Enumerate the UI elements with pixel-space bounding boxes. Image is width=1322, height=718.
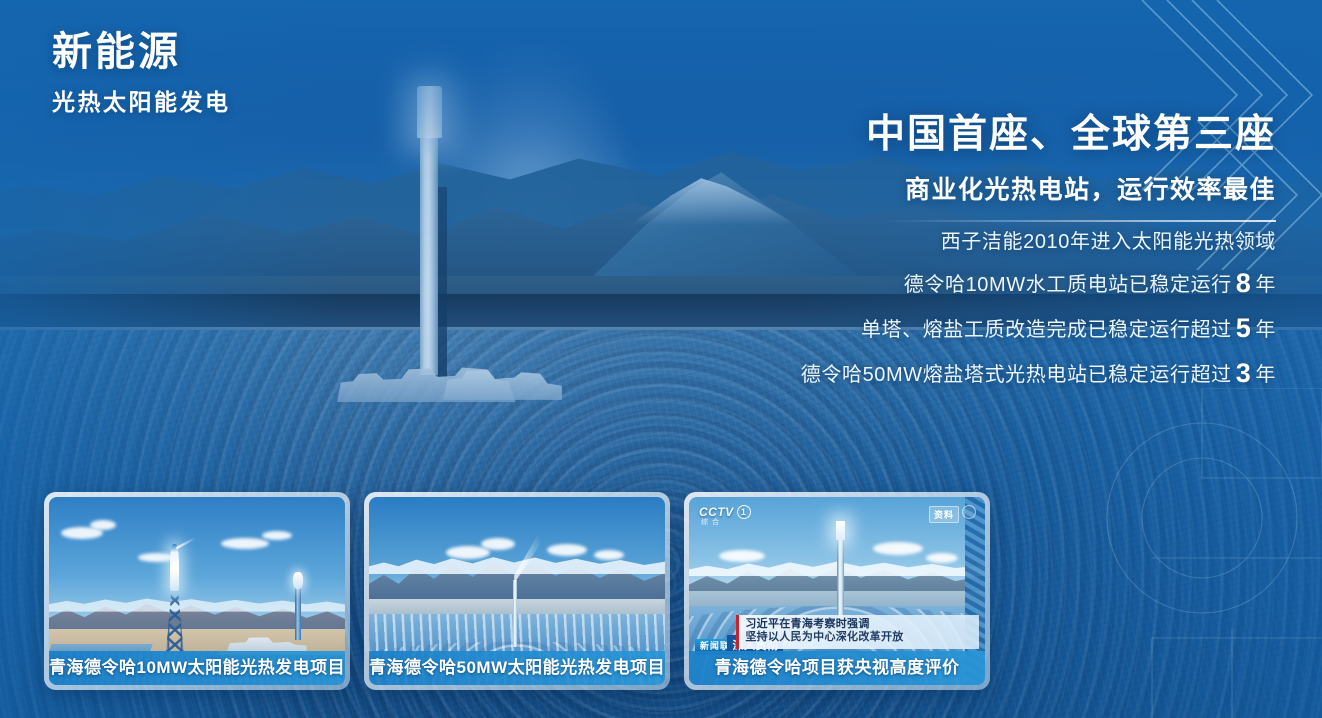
slide-canvas: 新能源 光热太阳能发电 中国首座、全球第三座 商业化光热电站，运行效率最佳 西子… [0, 0, 1322, 718]
photo-card-caption: 青海德令哈10MW太阳能光热发电项目 [49, 651, 345, 685]
fact-item: 德令哈50MW熔盐塔式光热电站已稳定运行超过3年 [801, 360, 1276, 387]
page-title: 新能源 [52, 30, 231, 75]
photo-card-image: 西子洁能 青海德令哈50MW太阳能光热发电项目 [369, 497, 665, 685]
card2-cloud [547, 544, 587, 556]
fact-text: 德令哈50MW熔盐塔式光热电站已稳定运行超过 [801, 364, 1232, 386]
card1-second-tower [295, 583, 302, 639]
headline-block: 中国首座、全球第三座 商业化光热电站，运行效率最佳 [866, 112, 1276, 222]
card1-cloud [262, 531, 292, 540]
news-ticker-line2: 坚持以人民为中心深化改革开放 [745, 631, 973, 645]
photo-card-image: CCTV 1 综合 资料 新闻联播 深入贯彻 习近平在青海考察时强调 坚持以人民… [689, 497, 985, 685]
page-subtitle: 光热太阳能发电 [52, 83, 231, 117]
card1-tower-receiver [170, 544, 179, 591]
photo-card-cctv[interactable]: CCTV 1 综合 资料 新闻联播 深入贯彻 习近平在青海考察时强调 坚持以人民… [684, 492, 990, 690]
cctv-channel-label: 综合 [701, 517, 723, 527]
fact-text: 德令哈10MW水工质电站已稳定运行 [904, 274, 1232, 296]
headline-sub: 商业化光热电站，运行效率最佳 [866, 170, 1276, 206]
photo-card-50mw[interactable]: 西子洁能 青海德令哈50MW太阳能光热发电项目 [364, 492, 670, 690]
photo-card-10mw[interactable]: 青海德令哈10MW太阳能光热发电项目 [44, 492, 350, 690]
card1-second-receiver [293, 572, 302, 589]
card2-cloud [446, 546, 490, 559]
photo-card-caption: 青海德令哈项目获央视高度评价 [689, 651, 985, 685]
fact-item: 单塔、熔盐工质改造完成已稳定运行超过5年 [801, 315, 1276, 342]
news-ticker-line1: 习近平在青海考察时强调 [745, 618, 973, 632]
card3-cloud [873, 542, 923, 555]
card3-cloud [719, 550, 765, 562]
fact-list: 西子洁能2010年进入太阳能光热领域 德令哈10MW水工质电站已稳定运行8年 单… [801, 232, 1276, 405]
photo-card-row: 青海德令哈10MW太阳能光热发电项目 西子洁能 青海德令哈50MW [44, 492, 990, 690]
broadcast-circle-icon [962, 505, 976, 519]
fact-value: 5 [1232, 313, 1256, 343]
fact-value: 8 [1232, 268, 1256, 298]
fact-text: 西子洁能2010年进入太阳能光热领域 [941, 231, 1276, 253]
card2-solar-tower [513, 580, 517, 648]
headline-divider [884, 220, 1276, 222]
fact-text: 单塔、熔盐工质改造完成已稳定运行超过 [861, 319, 1232, 341]
fact-unit: 年 [1255, 274, 1276, 296]
archive-badge: 资料 [929, 506, 959, 523]
fact-unit: 年 [1255, 364, 1276, 386]
news-ticker: 习近平在青海考察时强调 坚持以人民为中心深化改革开放 [736, 615, 979, 650]
card3-solar-tower [837, 527, 844, 621]
card3-tower-receiver [836, 521, 845, 540]
fact-unit: 年 [1255, 319, 1276, 341]
fact-value: 3 [1232, 358, 1256, 388]
fact-item: 德令哈10MW水工质电站已稳定运行8年 [801, 270, 1276, 297]
card2-cloud [594, 550, 624, 560]
fact-item: 西子洁能2010年进入太阳能光热领域 [801, 232, 1276, 252]
cctv-channel-number: 1 [737, 505, 751, 519]
brand-block: 新能源 光热太阳能发电 [52, 30, 231, 117]
photo-card-image: 青海德令哈10MW太阳能光热发电项目 [49, 497, 345, 685]
photo-card-caption: 青海德令哈50MW太阳能光热发电项目 [369, 651, 665, 685]
card1-cloud [90, 520, 116, 530]
headline-main: 中国首座、全球第三座 [866, 112, 1276, 158]
